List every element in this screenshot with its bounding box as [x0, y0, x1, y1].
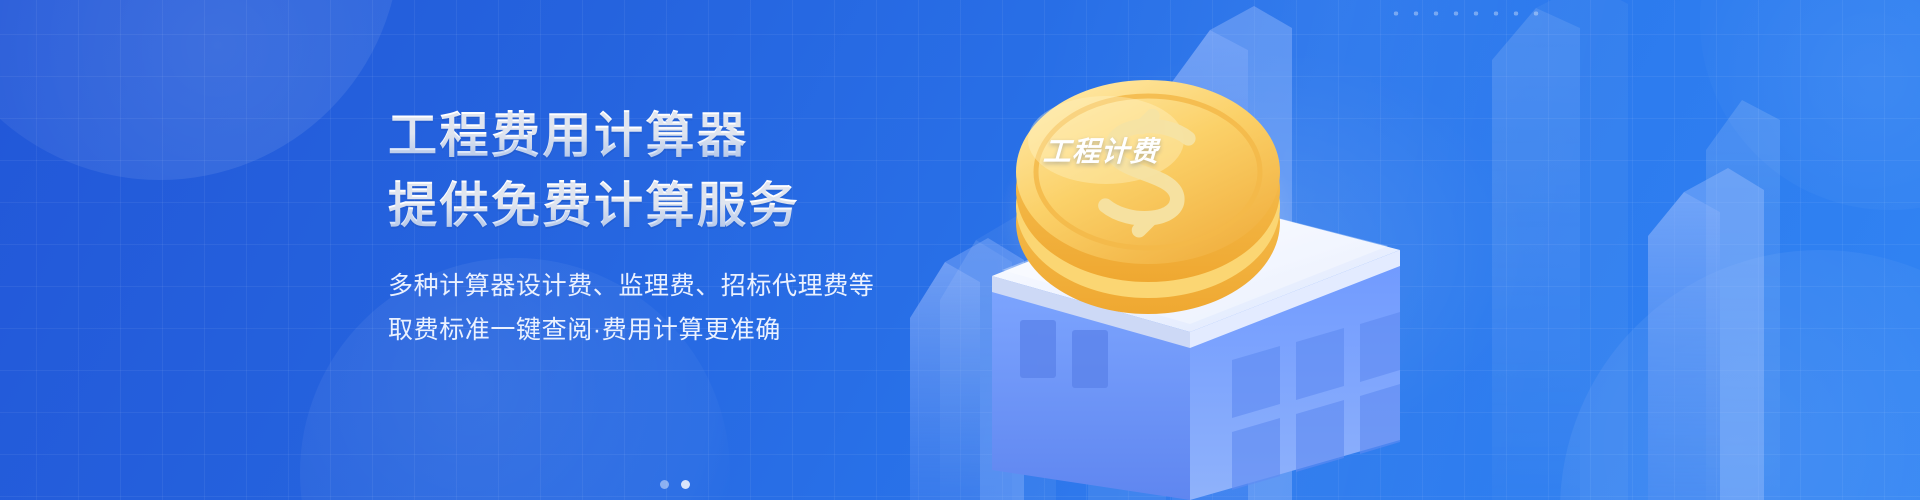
- hero-subtitle-group: 多种计算器设计费、监理费、招标代理费等 取费标准一键查阅·费用计算更准确: [388, 264, 1008, 352]
- carousel-dot-2[interactable]: [681, 480, 690, 489]
- illustration-badge: 工程计费: [1042, 130, 1159, 170]
- carousel-dot-1[interactable]: [660, 480, 669, 489]
- hero-copy: 工程费用计算器 提供免费计算服务 多种计算器设计费、监理费、招标代理费等 取费标…: [388, 108, 1008, 352]
- hero-banner: 工程计费 工程费用计算器 提供免费计算服务 多种计算器设计费、监理费、招标代理费…: [0, 0, 1920, 500]
- hero-subtitle-line-2: 取费标准一键查阅·费用计算更准确: [388, 308, 1008, 352]
- carousel-pagination[interactable]: [660, 480, 690, 489]
- page-title-line-1: 工程费用计算器: [388, 108, 1008, 164]
- page-title-line-2: 提供免费计算服务: [388, 178, 1008, 234]
- hero-subtitle-line-1: 多种计算器设计费、监理费、招标代理费等: [388, 264, 1008, 308]
- isometric-building-icon: [880, 0, 1920, 500]
